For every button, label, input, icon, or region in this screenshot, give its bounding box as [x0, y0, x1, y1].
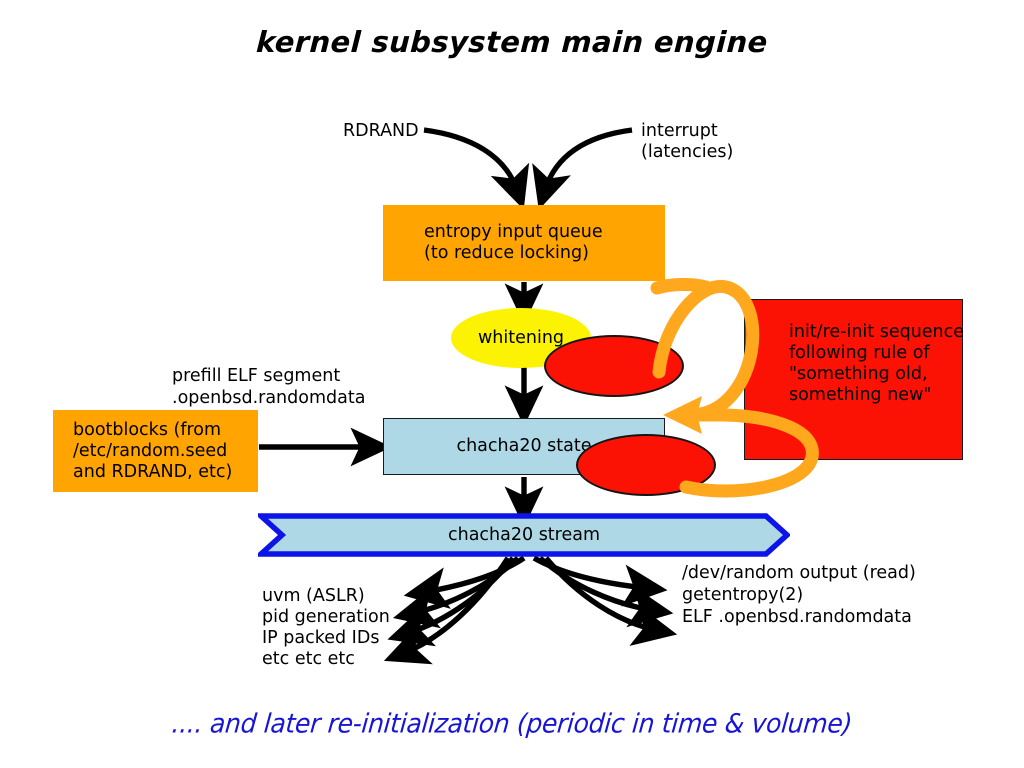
consumer-left-line3: IP packed IDs	[262, 628, 379, 648]
consumer-left-line2: pid generation	[262, 607, 390, 627]
bootblocks-line3: and RDRAND, etc)	[73, 462, 258, 483]
arrow-fan-left	[404, 558, 524, 653]
arrow-interrupt-to-queue	[545, 130, 632, 190]
consumer-left-line4: etc etc etc	[262, 649, 355, 669]
reinit-line1: init/re-init sequence	[789, 322, 962, 343]
reinit-line3: "something old,	[789, 364, 962, 385]
chacha20-state-label: chacha20 state	[456, 436, 591, 457]
reinit-line2: following rule of	[789, 343, 962, 364]
label-interrupt-line1: interrupt	[641, 121, 718, 141]
red-ellipse-lower	[576, 434, 716, 496]
label-prefill-line1: prefill ELF segment	[172, 366, 340, 386]
entropy-queue-line2: (to reduce locking)	[424, 243, 665, 264]
label-interrupt-line2: (latencies)	[641, 142, 733, 162]
consumer-right-line2: getentropy(2)	[682, 585, 803, 605]
chacha20-stream-band: chacha20 stream	[258, 513, 790, 557]
red-ellipse-upper	[544, 335, 684, 397]
whitening-label: whitening	[478, 328, 564, 348]
label-prefill-line2: .openbsd.randomdata	[172, 388, 365, 408]
entropy-input-queue-box: entropy input queue (to reduce locking)	[383, 205, 665, 281]
consumer-right-line3: ELF .openbsd.randomdata	[682, 607, 912, 627]
consumer-left-line1: uvm (ASLR)	[262, 586, 365, 606]
arrow-rdrand-to-queue	[424, 130, 517, 190]
diagram-canvas: kernel subsystem main engine RDRAND inte…	[0, 0, 1024, 768]
chacha20-stream-label: chacha20 stream	[448, 525, 600, 545]
bootblocks-line1: bootblocks (from	[73, 420, 258, 441]
bootblocks-box: bootblocks (from /etc/random.seed and RD…	[53, 410, 258, 492]
arrow-fan-right	[534, 558, 656, 630]
label-rdrand: RDRAND	[343, 121, 419, 141]
bootblocks-line2: /etc/random.seed	[73, 441, 258, 462]
entropy-queue-line1: entropy input queue	[424, 222, 665, 243]
consumer-right-line1: /dev/random output (read)	[682, 563, 916, 583]
reinit-line4: something new"	[789, 385, 962, 406]
footer-note: .... and later re-initialization (period…	[0, 708, 1024, 739]
page-title: kernel subsystem main engine	[0, 25, 1024, 59]
reinit-sequence-box: init/re-init sequence following rule of …	[744, 299, 963, 460]
